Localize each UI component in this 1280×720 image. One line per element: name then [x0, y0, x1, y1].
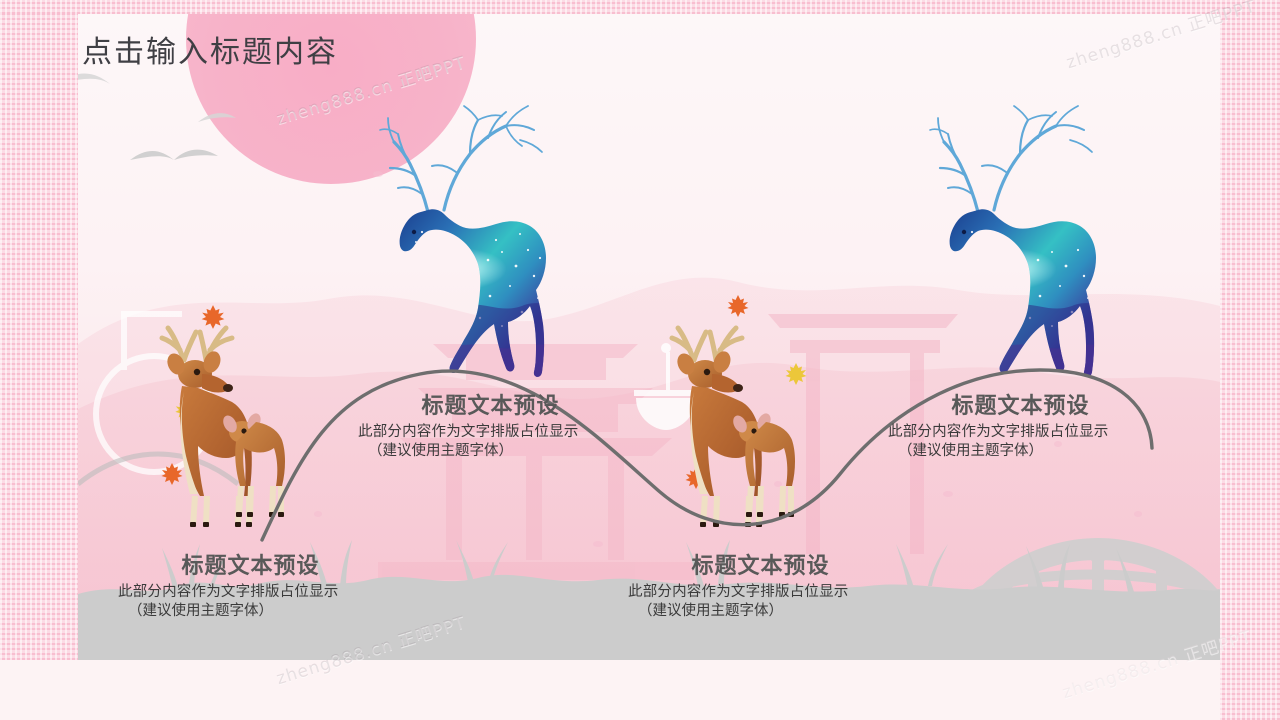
- flying-bird-icon: [130, 150, 218, 160]
- content-block[interactable]: 标题文本预设 此部分内容作为文字排版占位显示 （建议使用主题字体）: [358, 392, 623, 462]
- block-body: 此部分内容作为文字排版占位显示: [358, 423, 623, 443]
- slide-border-right: [1220, 0, 1280, 720]
- block-note: （建议使用主题字体）: [118, 602, 383, 622]
- galaxy-deer-illustration: [920, 100, 1130, 380]
- slide-border-left: [0, 0, 78, 660]
- block-note: （建议使用主题字体）: [888, 442, 1153, 462]
- block-heading: 标题文本预设: [358, 392, 623, 420]
- slide-border-top: [0, 0, 1280, 14]
- block-heading: 标题文本预设: [118, 552, 383, 580]
- block-body: 此部分内容作为文字排版占位显示: [118, 583, 383, 603]
- brown-deer-and-fawn-illustration: [150, 300, 320, 530]
- brown-deer-and-fawn-illustration: [660, 300, 830, 530]
- block-heading: 标题文本预设: [628, 552, 893, 580]
- content-block[interactable]: 标题文本预设 此部分内容作为文字排版占位显示 （建议使用主题字体）: [888, 392, 1153, 462]
- page-title: 点击输入标题内容: [82, 27, 338, 71]
- block-body: 此部分内容作为文字排版占位显示: [888, 423, 1153, 443]
- block-note: （建议使用主题字体）: [358, 442, 623, 462]
- content-block[interactable]: 标题文本预设 此部分内容作为文字排版占位显示 （建议使用主题字体）: [628, 552, 893, 622]
- galaxy-deer-illustration: [370, 100, 580, 380]
- block-note: （建议使用主题字体）: [628, 602, 893, 622]
- block-heading: 标题文本预设: [888, 392, 1153, 420]
- block-body: 此部分内容作为文字排版占位显示: [628, 583, 893, 603]
- presentation-slide: 点击输入标题内容 标题文本预设 此部分内容作为文字排版占位显示 （建议使用主题字…: [0, 0, 1280, 720]
- content-block[interactable]: 标题文本预设 此部分内容作为文字排版占位显示 （建议使用主题字体）: [118, 552, 383, 622]
